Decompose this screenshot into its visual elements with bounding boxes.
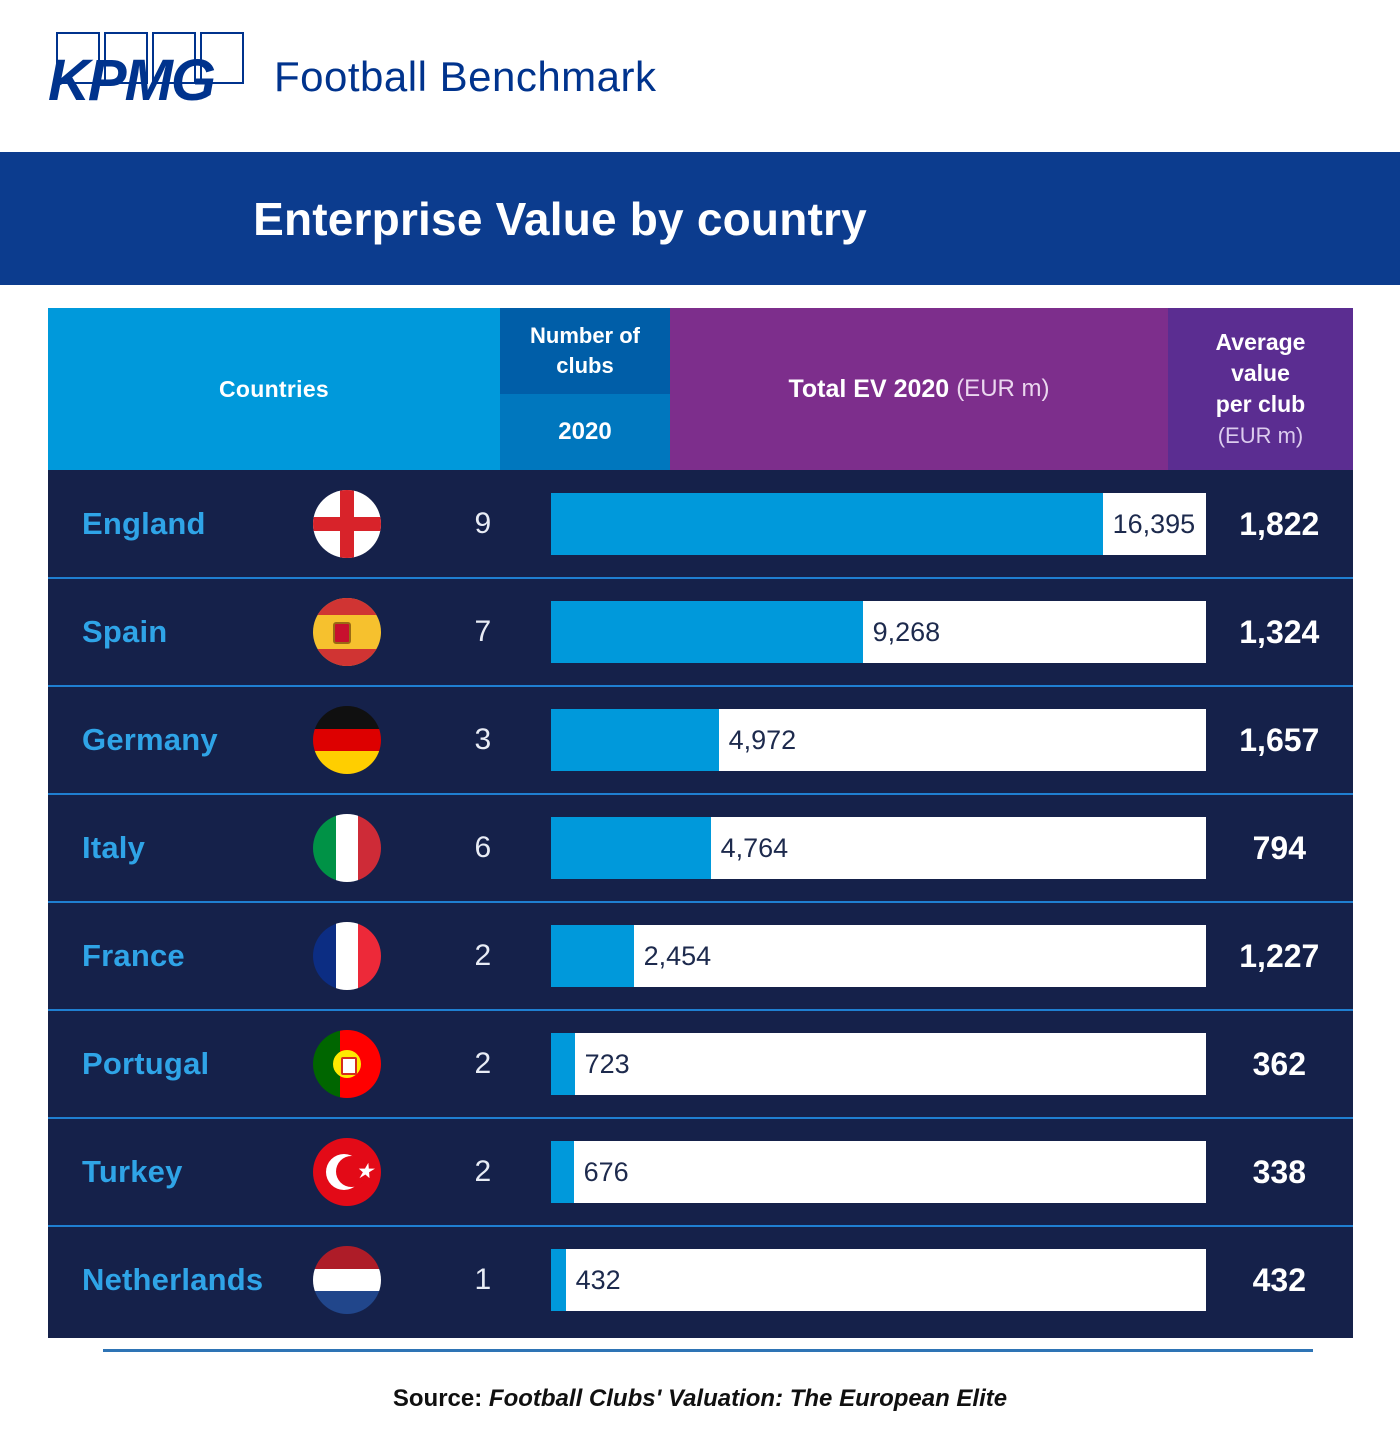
cell-country: Turkey★: [48, 1138, 415, 1206]
cell-number-of-clubs: 2: [415, 1047, 550, 1081]
cell-average-value: 338: [1206, 1154, 1353, 1191]
cell-country: Italy: [48, 814, 415, 882]
flag-italy-icon: [313, 814, 381, 882]
bar-value-label: 4,972: [729, 725, 797, 756]
bar-fill: [551, 601, 863, 663]
bar-track: 4,764: [551, 817, 1206, 879]
cell-number-of-clubs: 2: [415, 1155, 550, 1189]
cell-total-ev-bar: 4,972: [551, 709, 1049, 771]
cell-average-value: 1,227: [1206, 938, 1353, 975]
column-header-avg-line1: Average: [1216, 327, 1306, 358]
bar-fill: [551, 493, 1103, 555]
country-label: Italy: [82, 830, 313, 866]
column-header-avg-unit: (EUR m): [1218, 420, 1304, 451]
country-label: France: [82, 938, 313, 974]
table-row: Portugal2723362: [48, 1010, 1353, 1118]
bar-track: 723: [551, 1033, 1206, 1095]
table-body: England916,3951,822Spain79,2681,324Germa…: [48, 470, 1353, 1338]
bar-fill: [551, 1033, 575, 1095]
column-header-total-ev-unit: (EUR m): [956, 375, 1049, 403]
table-row: Turkey★2676338: [48, 1118, 1353, 1226]
cell-total-ev-bar: 4,764: [551, 817, 1049, 879]
cell-average-value: 1,657: [1206, 722, 1353, 759]
country-label: Netherlands: [82, 1262, 313, 1298]
source-title: Football Clubs' Valuation: The European …: [489, 1385, 1007, 1412]
cell-country: Netherlands: [48, 1246, 415, 1314]
cell-total-ev-bar: 723: [551, 1033, 1049, 1095]
kpmg-wordmark: KPMG: [48, 52, 260, 110]
country-label: Spain: [82, 614, 313, 650]
cell-average-value: 794: [1206, 830, 1353, 867]
cell-average-value: 1,822: [1206, 506, 1353, 543]
table-row: Netherlands1432432: [48, 1226, 1353, 1334]
cell-total-ev-bar: 16,395: [551, 493, 1049, 555]
column-header-clubs-title: Number of clubs: [500, 308, 670, 394]
flag-portugal-icon: [313, 1030, 381, 1098]
flag-netherlands-icon: [313, 1246, 381, 1314]
brand-bar: KPMG Football Benchmark: [0, 0, 1400, 152]
bar-track: 432: [551, 1249, 1206, 1311]
column-header-total-ev-title: Total EV 2020: [788, 375, 949, 404]
cell-total-ev-bar: 432: [551, 1249, 1049, 1311]
cell-total-ev-bar: 9,268: [551, 601, 1049, 663]
column-header-total-ev: Total EV 2020 (EUR m): [670, 308, 1168, 470]
cell-country: England: [48, 490, 415, 558]
table-row: Italy64,764794: [48, 794, 1353, 902]
column-header-avg-line3: per club: [1216, 389, 1305, 420]
footer-divider: [103, 1349, 1313, 1352]
bar-fill: [551, 1141, 574, 1203]
country-label: Turkey: [82, 1154, 313, 1190]
flag-germany-icon: [313, 706, 381, 774]
cell-number-of-clubs: 3: [415, 723, 550, 757]
bar-fill: [551, 709, 719, 771]
cell-average-value: 362: [1206, 1046, 1353, 1083]
bar-value-label: 2,454: [644, 941, 712, 972]
flag-turkey-icon: ★: [313, 1138, 381, 1206]
cell-number-of-clubs: 6: [415, 831, 550, 865]
bar-track: 2,454: [551, 925, 1206, 987]
table-row: France22,4541,227: [48, 902, 1353, 1010]
column-header-countries: Countries: [48, 308, 500, 470]
country-label: Germany: [82, 722, 313, 758]
cell-number-of-clubs: 2: [415, 939, 550, 973]
table-row: Spain79,2681,324: [48, 578, 1353, 686]
cell-average-value: 432: [1206, 1262, 1353, 1299]
bar-track: 9,268: [551, 601, 1206, 663]
cell-number-of-clubs: 1: [415, 1263, 550, 1297]
source-note: Source: Football Clubs' Valuation: The E…: [0, 1385, 1400, 1413]
flag-england-icon: [313, 490, 381, 558]
bar-value-label: 16,395: [1113, 509, 1196, 540]
cell-total-ev-bar: 2,454: [551, 925, 1049, 987]
kpmg-logo-icon: KPMG: [48, 30, 260, 108]
cell-number-of-clubs: 7: [415, 615, 550, 649]
kpmg-football-benchmark-logo: KPMG Football Benchmark: [48, 30, 657, 108]
cell-total-ev-bar: 676: [551, 1141, 1049, 1203]
column-header-average-value: Average value per club (EUR m): [1168, 308, 1353, 470]
cell-number-of-clubs: 9: [415, 507, 550, 541]
country-label: England: [82, 506, 313, 542]
bar-fill: [551, 817, 711, 879]
column-header-avg-line2: value: [1231, 358, 1290, 389]
page-title: Enterprise Value by country: [0, 192, 1120, 246]
flag-france-icon: [313, 922, 381, 990]
bar-fill: [551, 1249, 566, 1311]
bar-value-label: 4,764: [721, 833, 789, 864]
table-header-row: Countries Number of clubs 2020 Total EV …: [48, 308, 1353, 470]
cell-country: Spain: [48, 598, 415, 666]
bar-value-label: 9,268: [873, 617, 941, 648]
table-row: England916,3951,822: [48, 470, 1353, 578]
cell-country: France: [48, 922, 415, 990]
infographic-page: KPMG Football Benchmark Enterprise Value…: [0, 0, 1400, 1430]
column-header-clubs-year: 2020: [500, 394, 670, 470]
cell-average-value: 1,324: [1206, 614, 1353, 651]
bar-track: 4,972: [551, 709, 1206, 771]
bar-track: 676: [551, 1141, 1206, 1203]
flag-spain-icon: [313, 598, 381, 666]
bar-value-label: 432: [576, 1265, 621, 1296]
bar-value-label: 676: [584, 1157, 629, 1188]
country-label: Portugal: [82, 1046, 313, 1082]
table-row: Germany34,9721,657: [48, 686, 1353, 794]
football-benchmark-wordmark: Football Benchmark: [274, 54, 657, 100]
bar-value-label: 723: [585, 1049, 630, 1080]
title-band: Enterprise Value by country: [0, 152, 1400, 285]
column-header-number-of-clubs: Number of clubs 2020: [500, 308, 670, 470]
cell-country: Germany: [48, 706, 415, 774]
bar-track: 16,395: [551, 493, 1206, 555]
source-label: Source:: [393, 1385, 482, 1412]
cell-country: Portugal: [48, 1030, 415, 1098]
bar-fill: [551, 925, 634, 987]
enterprise-value-table: Countries Number of clubs 2020 Total EV …: [48, 308, 1353, 1338]
